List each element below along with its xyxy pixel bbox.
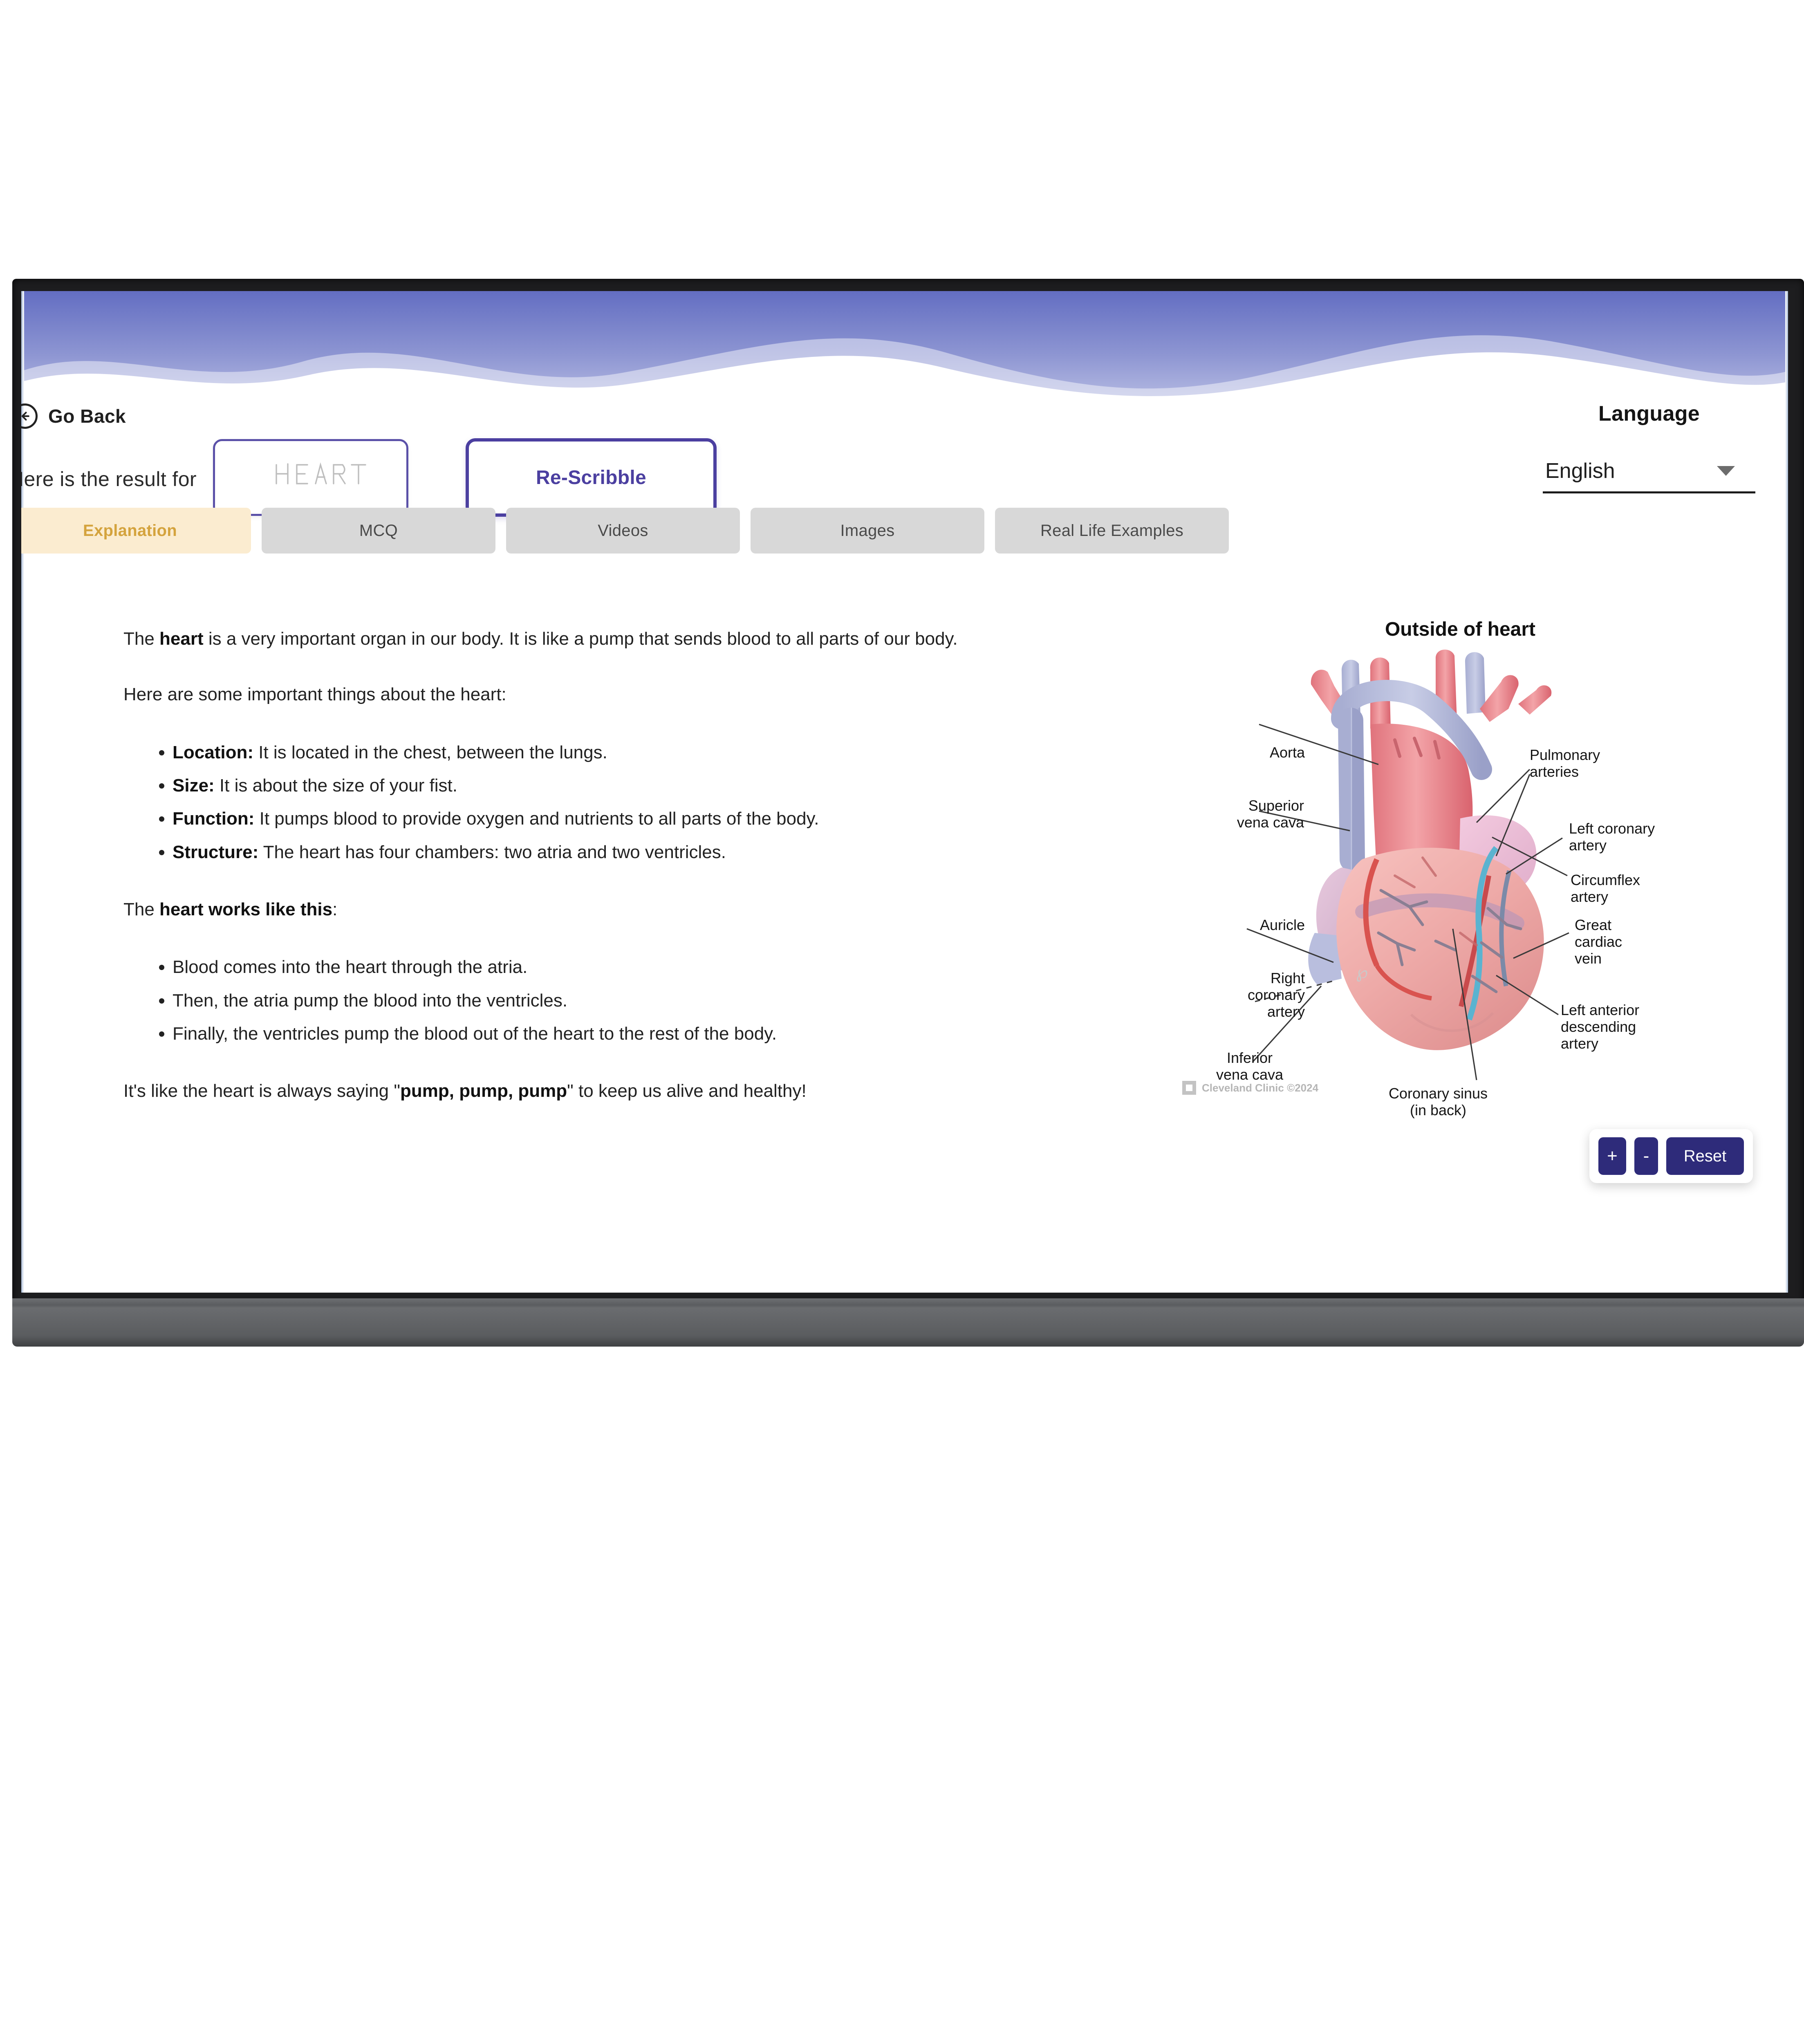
bezel-inner-shadow — [12, 279, 1804, 1305]
screenshot-root: Go Back Here is the result for — [0, 0, 1804, 1578]
interactive-flat-panel: Go Back Here is the result for — [12, 279, 1804, 1329]
panel-bottom-bar: Study 'n' Learn — [12, 1298, 1804, 1347]
